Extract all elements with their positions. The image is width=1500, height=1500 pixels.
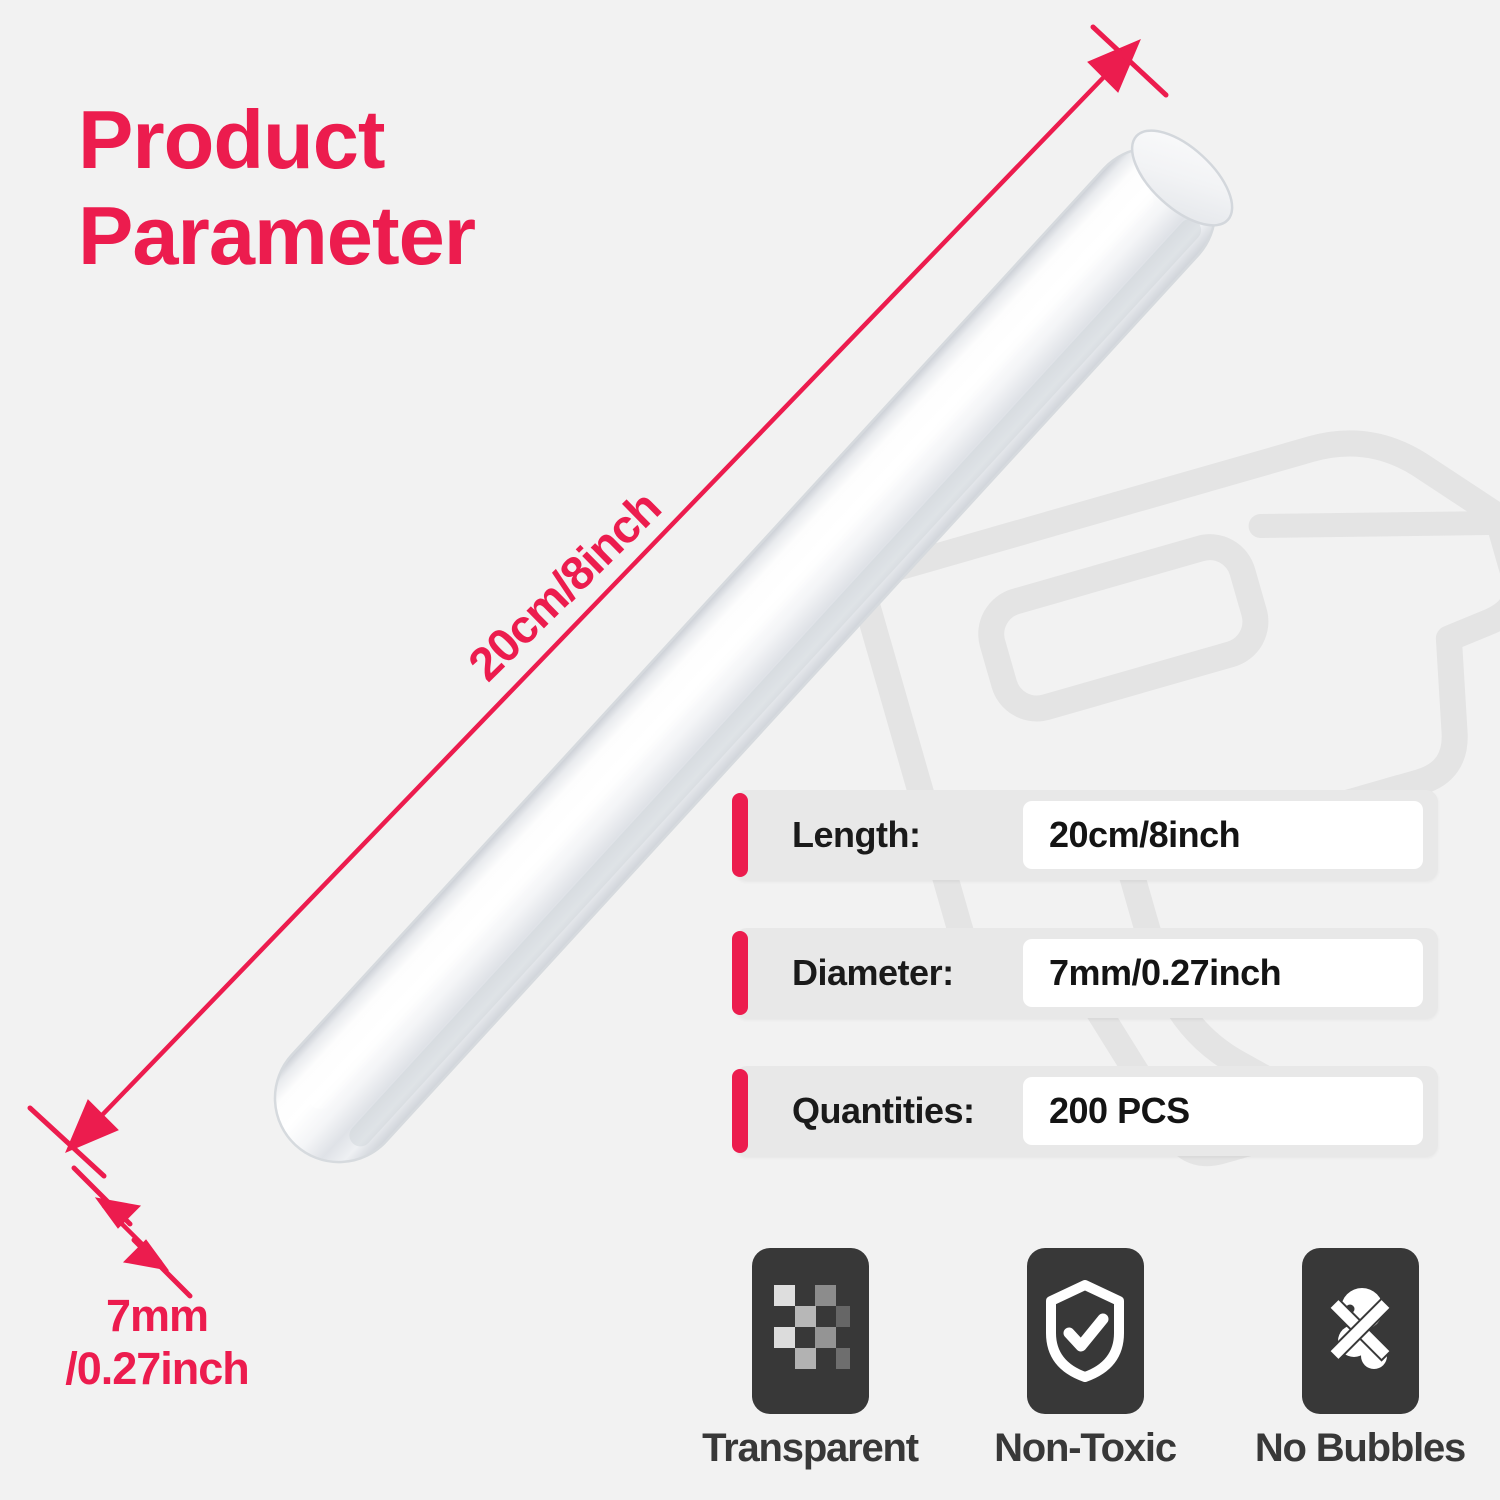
shield-check-icon (1043, 1279, 1127, 1383)
diameter-label-line-2: /0.27inch (22, 1343, 292, 1396)
diameter-dimension-label: 7mm /0.27inch (22, 1290, 292, 1395)
spec-label: Length: (792, 814, 1007, 856)
spec-row-diameter: Diameter: 7mm/0.27inch (735, 928, 1438, 1018)
product-parameter-infographic: Product Parameter (0, 0, 1500, 1500)
spec-label: Diameter: (792, 952, 1007, 994)
spec-value-box: 7mm/0.27inch (1023, 939, 1423, 1007)
feature-label: Transparent (690, 1426, 930, 1471)
title-line-1: Product (78, 93, 385, 186)
feature-transparent: Transparent (690, 1248, 930, 1471)
spec-row-quantities: Quantities: 200 PCS (735, 1066, 1438, 1156)
accent-bar (732, 793, 748, 877)
feature-non-toxic: Non-Toxic (965, 1248, 1205, 1471)
feature-label: Non-Toxic (965, 1426, 1205, 1471)
title-line-2: Parameter (78, 188, 718, 284)
feature-icon-tile (752, 1248, 869, 1414)
length-dimension-label: 20cm/8inch (409, 433, 719, 739)
spec-value: 20cm/8inch (1049, 814, 1240, 856)
feature-icon-tile (1302, 1248, 1419, 1414)
spec-value: 200 PCS (1049, 1090, 1190, 1132)
accent-bar (732, 1069, 748, 1153)
spec-list: Length: 20cm/8inch Diameter: 7mm/0.27inc… (735, 790, 1438, 1156)
checkerboard-icon (770, 1279, 850, 1383)
feature-icon-tile (1027, 1248, 1144, 1414)
spec-value: 7mm/0.27inch (1049, 952, 1281, 994)
feature-badge-list: Transparent Non-Toxic (690, 1248, 1480, 1471)
spec-label: Quantities: (792, 1090, 1007, 1132)
spec-value-box: 200 PCS (1023, 1077, 1423, 1145)
feature-no-bubbles: No Bubbles (1240, 1248, 1480, 1471)
no-bubbles-icon (1316, 1279, 1404, 1383)
accent-bar (732, 931, 748, 1015)
spec-row-length: Length: 20cm/8inch (735, 790, 1438, 880)
page-title: Product Parameter (78, 92, 718, 285)
diameter-dimension-line (74, 1168, 190, 1296)
diameter-label-line-1: 7mm (22, 1290, 292, 1343)
spec-value-box: 20cm/8inch (1023, 801, 1423, 869)
feature-label: No Bubbles (1240, 1426, 1480, 1471)
